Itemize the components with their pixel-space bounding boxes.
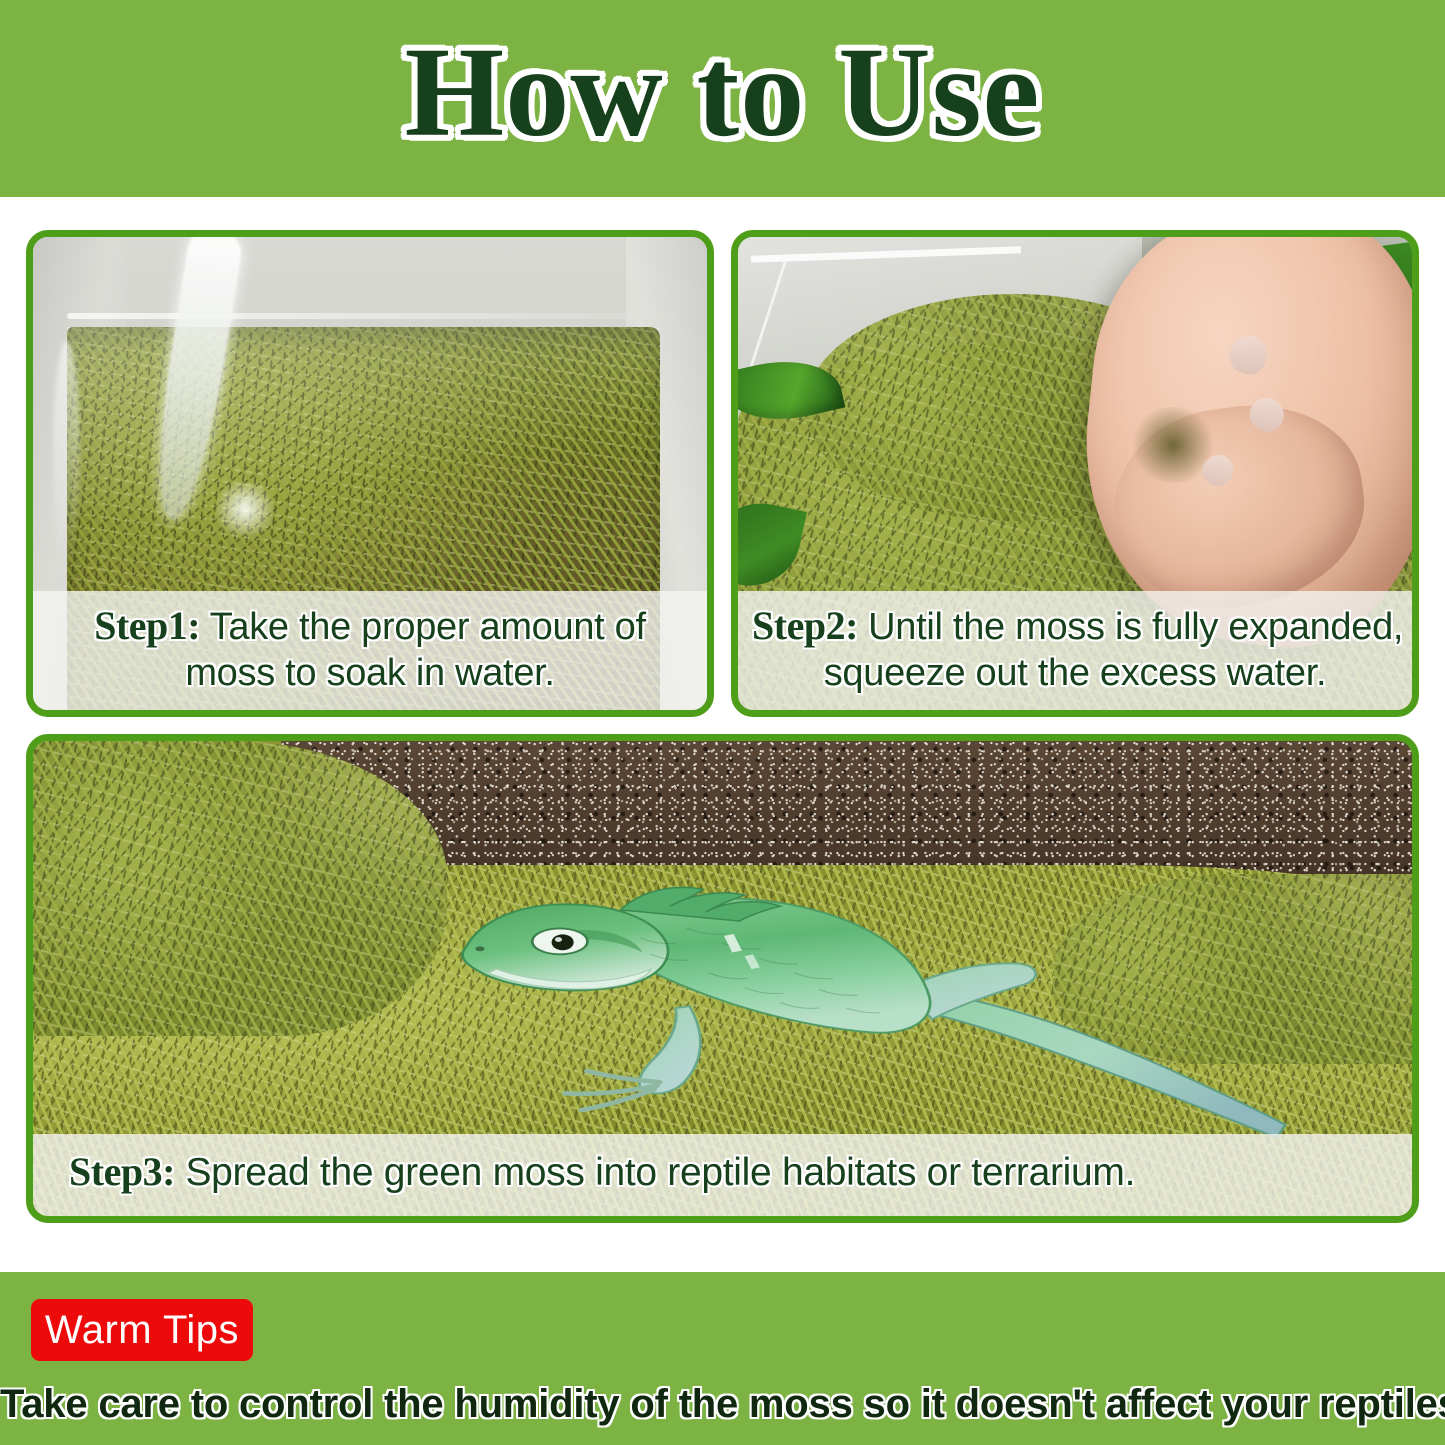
step1-label: Step1: xyxy=(94,603,200,648)
step2-label: Step2: xyxy=(752,603,858,648)
step3-caption-line-1: Step3: Spread the green moss into reptil… xyxy=(69,1148,1398,1197)
step-card-3: Step3: Spread the green moss into reptil… xyxy=(26,734,1419,1223)
step1-caption-line-1: Step1: Take the proper amount of xyxy=(47,603,693,650)
step2-caption-line-1: Step2: Until the moss is fully expanded, xyxy=(752,603,1398,650)
water-stream-secondary xyxy=(53,341,80,568)
step-card-1: Step1: Take the proper amount of moss to… xyxy=(26,230,714,717)
step3-label: Step3: xyxy=(69,1149,175,1194)
container-rim xyxy=(67,313,680,319)
step2-text-line-1: Until the moss is fully expanded, xyxy=(868,606,1403,648)
step3-caption: Step3: Spread the green moss into reptil… xyxy=(33,1134,1412,1216)
step1-text-line-1: Take the proper amount of xyxy=(210,606,646,648)
header-band: How to Use xyxy=(0,0,1445,197)
footer-band: Warm Tips Take care to control the humid… xyxy=(0,1272,1445,1445)
step1-caption: Step1: Take the proper amount of moss to… xyxy=(33,591,707,710)
step1-caption-line-2: moss to soak in water. xyxy=(47,650,693,696)
warm-tips-text: Take care to control the humidity of the… xyxy=(0,1380,1445,1428)
page-title: How to Use xyxy=(0,28,1445,156)
warm-tips-label: Warm Tips xyxy=(45,1310,239,1350)
moss-mound-left xyxy=(33,741,447,1036)
lizard-illustration xyxy=(433,808,1288,1179)
warm-tips-badge: Warm Tips xyxy=(31,1299,253,1361)
step-card-2: Step2: Until the moss is fully expanded,… xyxy=(731,230,1419,717)
step3-text-line-1: Spread the green moss into reptile habit… xyxy=(185,1151,1135,1194)
step2-caption-line-2: squeeze out the excess water. xyxy=(752,650,1398,696)
water-splash xyxy=(208,483,282,535)
step2-caption: Step2: Until the moss is fully expanded,… xyxy=(738,591,1412,710)
